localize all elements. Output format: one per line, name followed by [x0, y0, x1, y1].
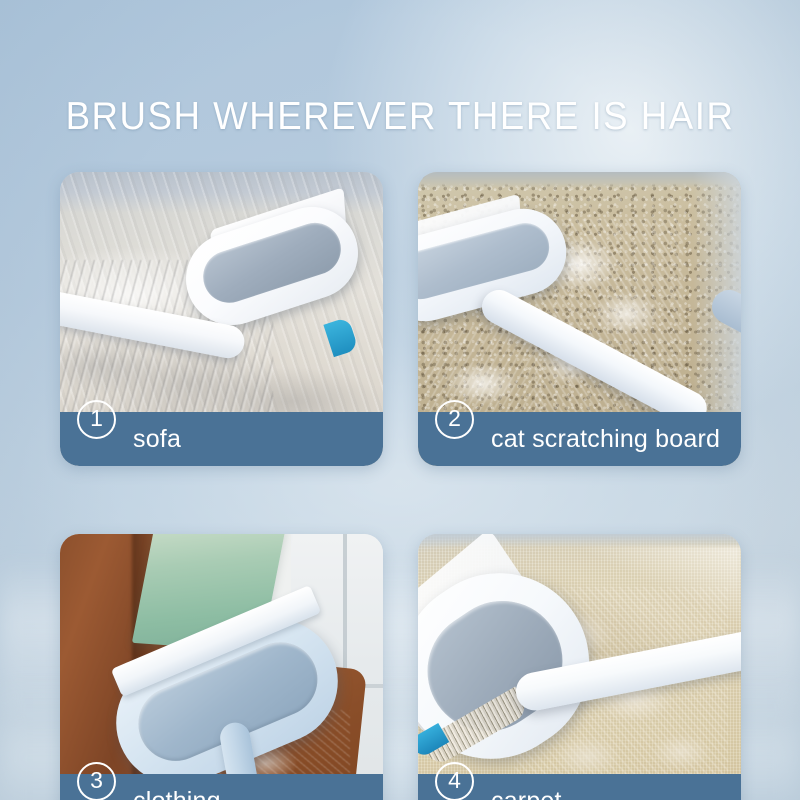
photo-clothing [60, 534, 383, 800]
page-title: BRUSH WHEREVER THERE IS HAIR [24, 96, 776, 138]
caption-bar-cat-scratching-board: 2 cat scratching board [418, 412, 741, 466]
panel-cat-scratching-board[interactable]: 2 cat scratching board [418, 172, 741, 466]
panel-row-bottom: 3 clothing 4 carpet [60, 534, 742, 800]
panel-label-sofa: sofa [133, 425, 181, 453]
panel-grid: 1 sofa 2 cat [60, 172, 742, 800]
panel-label-clothing: clothing [133, 787, 221, 800]
panel-number-badge: 3 [77, 762, 116, 800]
panel-row-top: 1 sofa 2 cat [60, 172, 742, 466]
caption-bar-carpet: 4 carpet [418, 774, 741, 800]
panel-number-badge: 4 [435, 762, 474, 800]
panel-clothing[interactable]: 3 clothing [60, 534, 383, 800]
panel-sofa[interactable]: 1 sofa [60, 172, 383, 466]
caption-bar-clothing: 3 clothing [60, 774, 383, 800]
photo-carpet [418, 534, 741, 800]
panel-carpet[interactable]: 4 carpet [418, 534, 741, 800]
caption-bar-sofa: 1 sofa [60, 412, 383, 466]
panel-label-carpet: carpet [491, 787, 562, 800]
brush-pad [418, 218, 555, 305]
panel-label-cat-scratching-board: cat scratching board [491, 425, 720, 453]
panel-number-badge: 2 [435, 400, 474, 439]
panel-number-badge: 1 [77, 400, 116, 439]
